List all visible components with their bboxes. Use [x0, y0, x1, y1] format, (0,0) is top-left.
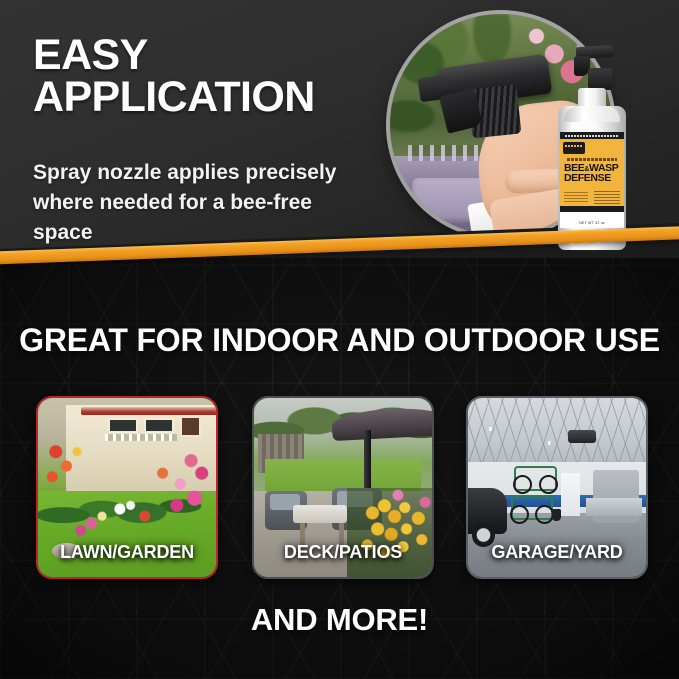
- card-label-garage-yard: GARAGE/YARD: [468, 542, 646, 563]
- bottle-label: BEE&WASP DEFENSE NET WT 32 oz: [560, 132, 624, 228]
- sprayer-collar: [588, 68, 612, 90]
- bottle-shoulder: [564, 106, 620, 122]
- and-more-text: AND MORE!: [0, 602, 679, 638]
- label-eyebrow-text: [567, 158, 617, 161]
- subcopy-text: Spray nozzle applies precisely where nee…: [33, 158, 363, 247]
- label-fineprint-right: [594, 190, 620, 204]
- product-bottle: BEE&WASP DEFENSE NET WT 32 oz: [558, 88, 626, 250]
- label-fineprint-left: [564, 192, 588, 202]
- label-top-banner: [560, 132, 624, 139]
- label-product-name: BEE&WASP DEFENSE: [564, 164, 620, 184]
- coffee-table: [293, 505, 346, 523]
- ceiling-lights-icon: [468, 419, 646, 462]
- page-title: EASY APPLICATION: [33, 34, 383, 118]
- infographic-page: EASY APPLICATION Spray nozzle applies pr…: [0, 0, 679, 679]
- headline-line-2: APPLICATION: [33, 76, 383, 118]
- bicycle-lower-icon: [511, 496, 554, 519]
- section-title: GREAT FOR INDOOR AND OUTDOOR USE: [0, 322, 679, 359]
- trash-bin: [552, 509, 561, 522]
- label-name-defense: DEFENSE: [564, 172, 611, 184]
- bottle-sprayer-head: [572, 46, 616, 90]
- brand-logo-icon: [563, 142, 585, 154]
- yellow-flower-border: [347, 488, 432, 578]
- card-label-lawn-garden: LAWN/GARDEN: [38, 542, 216, 563]
- workbench: [586, 498, 643, 516]
- bicycle-upper-icon: [514, 466, 557, 491]
- use-case-card-deck-patios[interactable]: DECK/PATIOS: [252, 396, 434, 579]
- garage-door-opener-icon: [568, 430, 596, 443]
- interior-door: [561, 473, 581, 516]
- use-case-card-garage-yard[interactable]: GARAGE/YARD: [466, 396, 648, 579]
- use-case-cards: LAWN/GARDEN DECK/PATIOS: [0, 396, 679, 581]
- use-case-card-lawn-garden[interactable]: LAWN/GARDEN: [36, 396, 218, 579]
- label-net-weight: NET WT 32 oz: [560, 221, 624, 225]
- card-label-deck-patios: DECK/PATIOS: [254, 542, 432, 563]
- headline-line-1: EASY: [33, 31, 148, 79]
